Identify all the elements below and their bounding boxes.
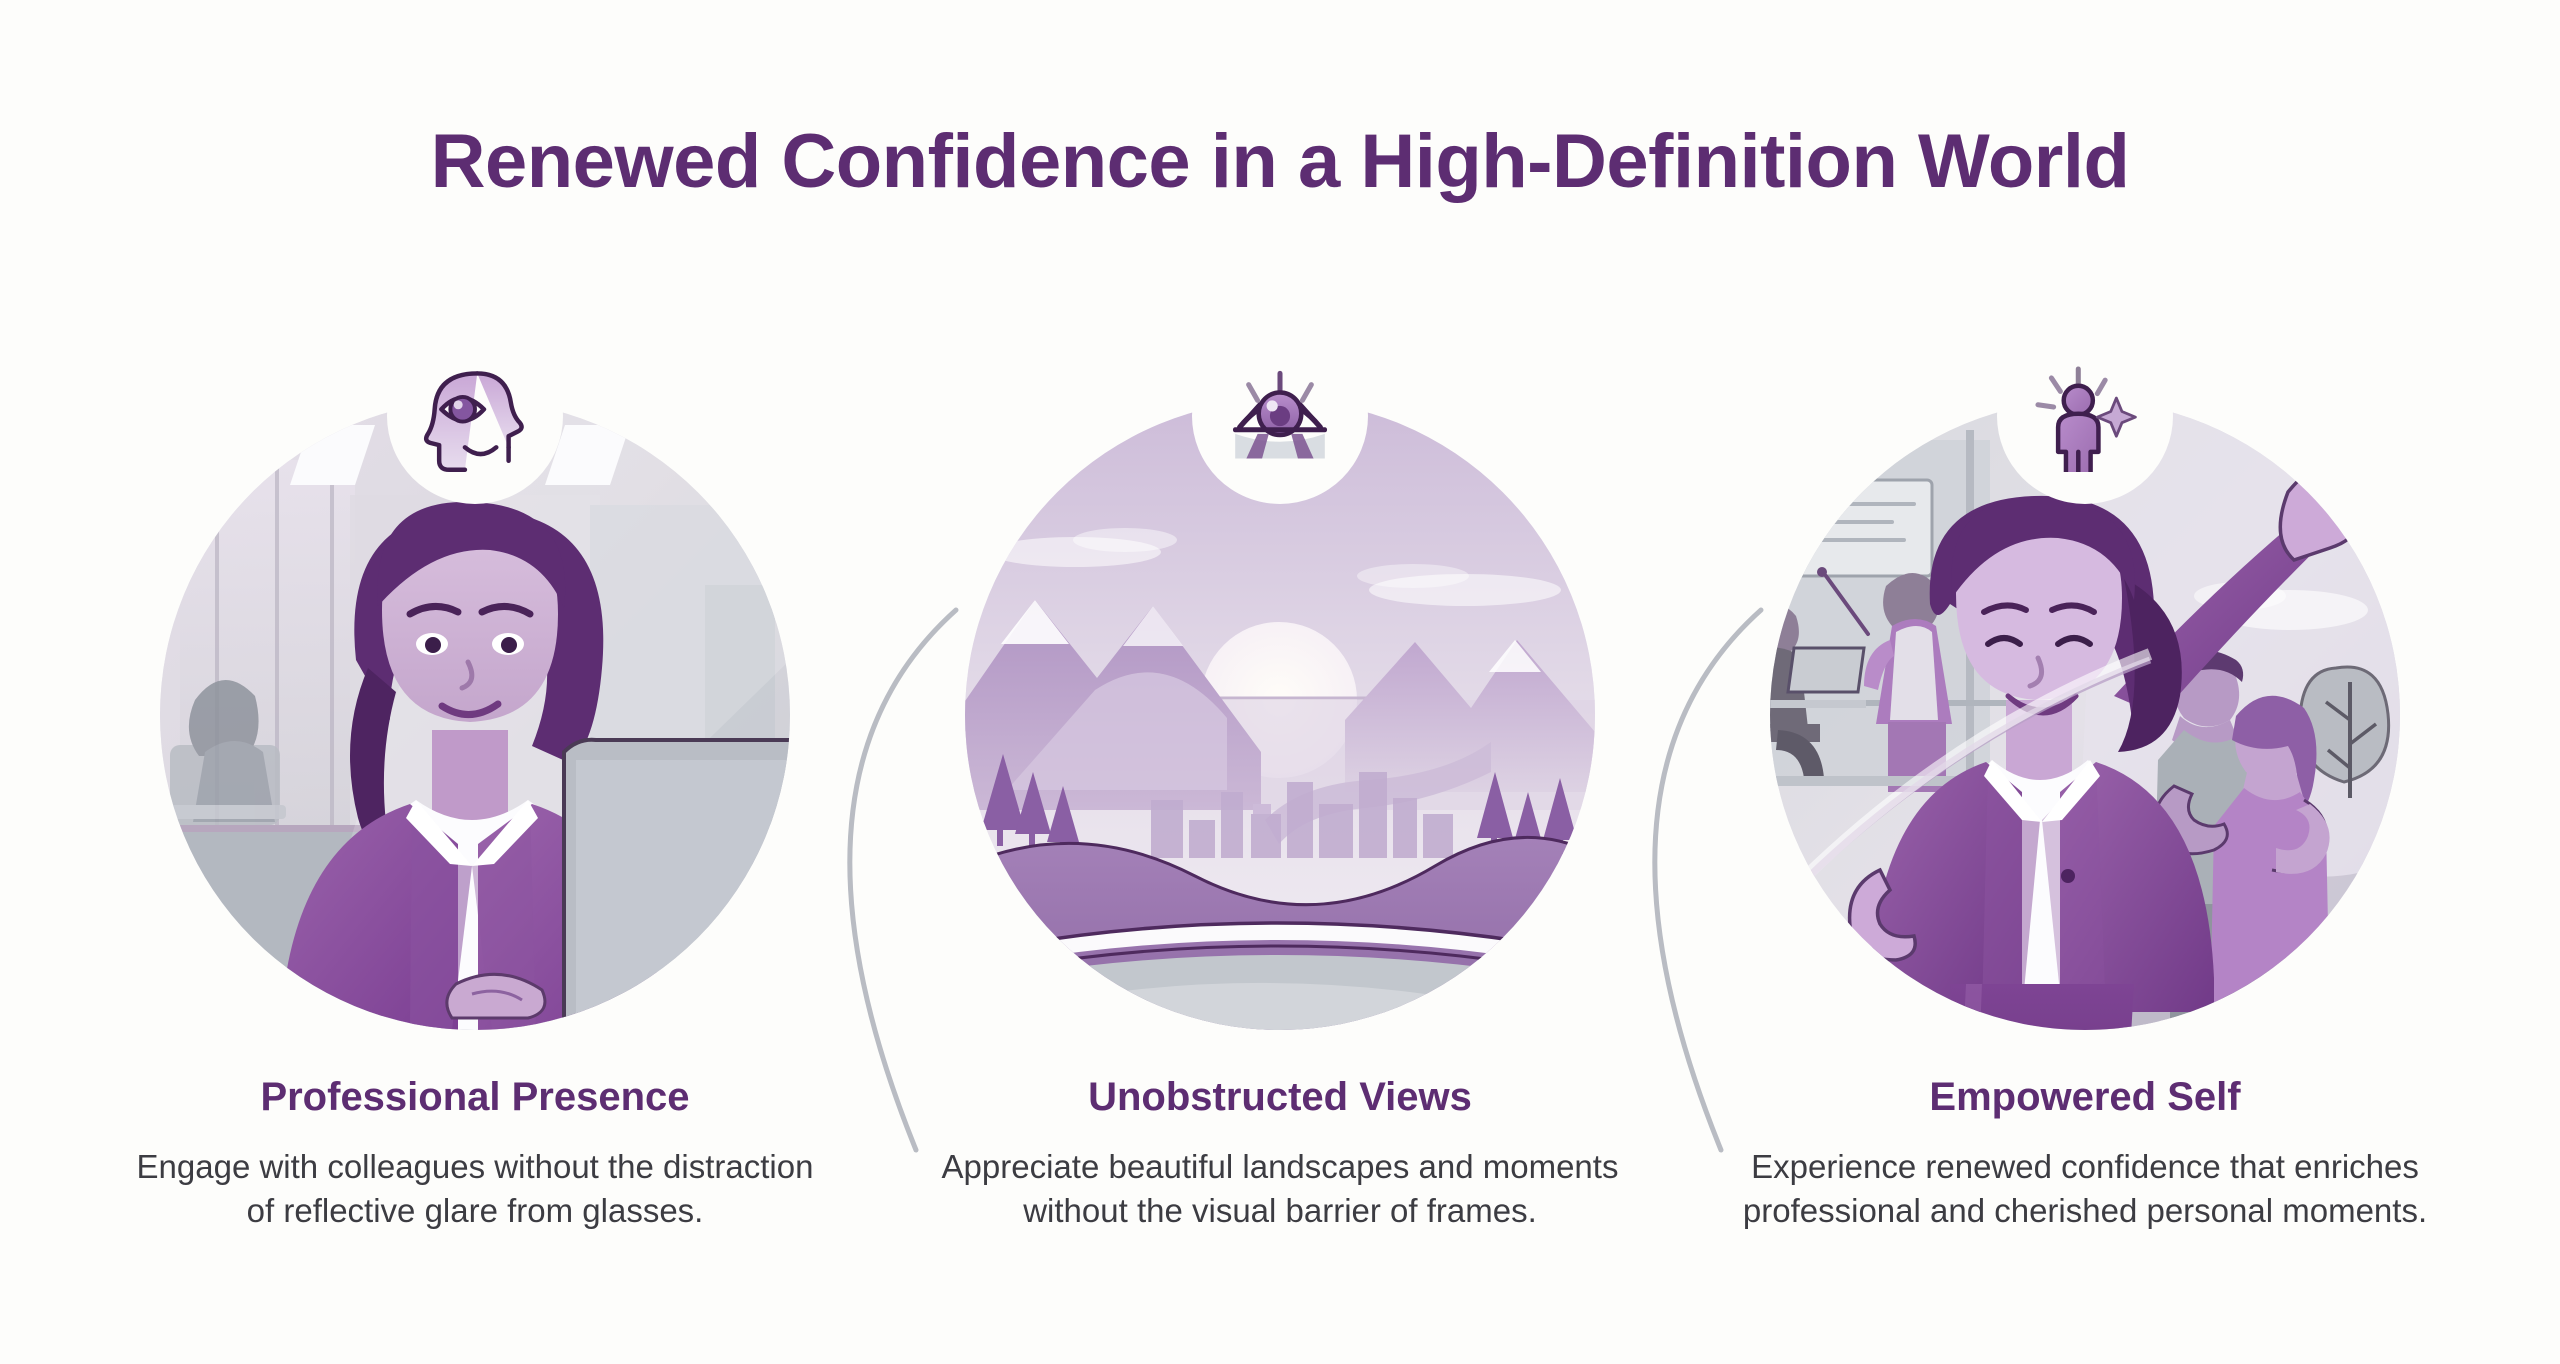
badge-radiating-eye (1192, 328, 1368, 504)
badge-empowered-person (1997, 328, 2173, 504)
feature-column-empowered-self: Empowered Self Experience renewed confid… (1705, 300, 2465, 1350)
caption-title: Professional Presence (125, 1075, 825, 1119)
feature-column-unobstructed-views: Unobstructed Views Appreciate beautiful … (900, 300, 1660, 1350)
caption-unobstructed-views: Unobstructed Views Appreciate beautiful … (930, 1075, 1630, 1233)
illustration-professional-presence (160, 400, 790, 1030)
caption-empowered-self: Empowered Self Experience renewed confid… (1735, 1075, 2435, 1233)
illustration-empowered-self (1770, 400, 2400, 1030)
feature-column-professional-presence: Professional Presence Engage with collea… (95, 300, 855, 1350)
caption-title: Empowered Self (1735, 1075, 2435, 1119)
radiating-eye-icon (1224, 360, 1336, 472)
feature-columns: Professional Presence Engage with collea… (0, 300, 2560, 1350)
head-with-eye-icon (419, 360, 531, 472)
caption-body: Experience renewed confidence that enric… (1735, 1145, 2435, 1233)
caption-body: Engage with colleagues without the distr… (125, 1145, 825, 1233)
empowered-person-icon (2029, 360, 2141, 472)
badge-head-with-eye (387, 328, 563, 504)
illustration-unobstructed-views (965, 400, 1595, 1030)
caption-professional-presence: Professional Presence Engage with collea… (125, 1075, 825, 1233)
caption-title: Unobstructed Views (930, 1075, 1630, 1119)
caption-body: Appreciate beautiful landscapes and mome… (930, 1145, 1630, 1233)
page-title: Renewed Confidence in a High-Definition … (0, 118, 2560, 205)
